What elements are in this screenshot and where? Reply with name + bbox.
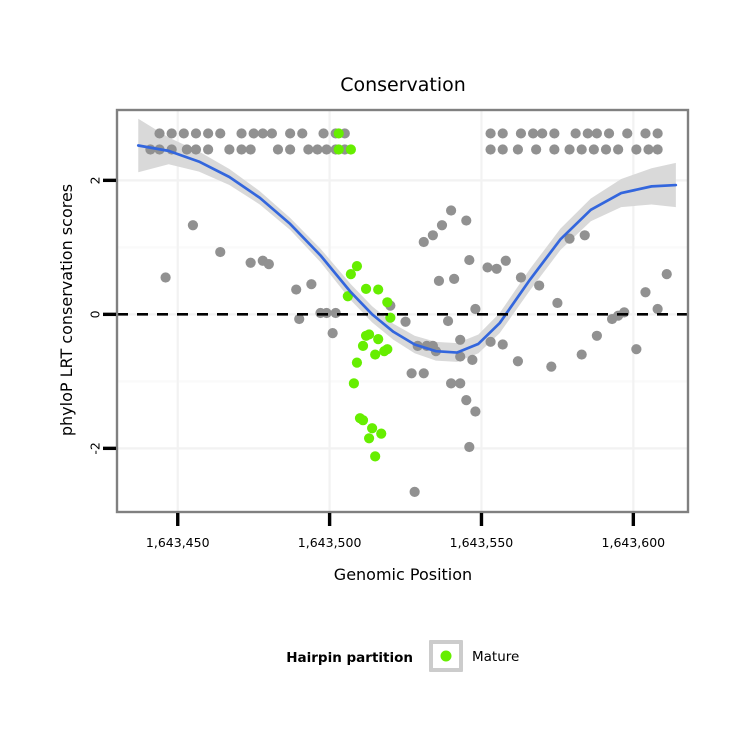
data-point (613, 144, 623, 154)
data-point (662, 269, 672, 279)
data-point (321, 308, 331, 318)
data-point (571, 128, 581, 138)
data-point (191, 144, 201, 154)
data-point (589, 144, 599, 154)
data-point (258, 128, 268, 138)
data-point (498, 128, 508, 138)
data-point (373, 334, 383, 344)
data-point (622, 128, 632, 138)
data-point (513, 356, 523, 366)
data-point (419, 368, 429, 378)
data-point (370, 349, 380, 359)
data-point (446, 378, 456, 388)
data-point (264, 259, 274, 269)
data-point (367, 423, 377, 433)
data-point (358, 341, 368, 351)
data-point (464, 442, 474, 452)
data-point (592, 128, 602, 138)
data-point (306, 279, 316, 289)
data-point (154, 128, 164, 138)
data-point (501, 256, 511, 266)
chart-canvas: Conservation 1,643,4501,643,5001,643,550… (0, 0, 750, 750)
data-point (485, 337, 495, 347)
data-point (303, 144, 313, 154)
data-point (455, 378, 465, 388)
data-point (640, 287, 650, 297)
chart-title: Conservation (340, 74, 466, 96)
data-point (513, 144, 523, 154)
data-point (613, 311, 623, 321)
data-point (160, 272, 170, 282)
data-point (236, 128, 246, 138)
data-point (361, 331, 371, 341)
data-point (167, 128, 177, 138)
data-point (461, 395, 471, 405)
data-point (577, 144, 587, 154)
data-point (498, 144, 508, 154)
data-point (470, 406, 480, 416)
data-point (631, 144, 641, 154)
data-point (376, 429, 386, 439)
data-point (373, 284, 383, 294)
data-point (267, 128, 277, 138)
data-point (485, 128, 495, 138)
data-point (236, 144, 246, 154)
data-point (215, 247, 225, 257)
plot-panel (117, 110, 688, 512)
data-point (419, 237, 429, 247)
data-point (516, 128, 526, 138)
data-point (549, 144, 559, 154)
data-point (485, 144, 495, 154)
data-point (246, 258, 256, 268)
data-point (580, 230, 590, 240)
data-point (631, 344, 641, 354)
data-point (349, 378, 359, 388)
data-point (604, 128, 614, 138)
data-point (328, 328, 338, 338)
data-point (437, 220, 447, 230)
y-axis-tick-label: -2 (87, 442, 102, 454)
data-point (653, 128, 663, 138)
data-point (643, 144, 653, 154)
data-point (467, 355, 477, 365)
data-point (382, 344, 392, 354)
data-point (215, 128, 225, 138)
data-point (546, 362, 556, 372)
y-axis-tick-label: 2 (87, 176, 102, 184)
data-point (182, 144, 192, 154)
data-point (312, 144, 322, 154)
data-point (564, 144, 574, 154)
conservation-plot-figure: Conservation 1,643,4501,643,5001,643,550… (0, 0, 750, 750)
data-point (370, 451, 380, 461)
data-point (577, 349, 587, 359)
data-point (534, 280, 544, 290)
data-point (291, 284, 301, 294)
data-point (464, 255, 474, 265)
data-point (400, 317, 410, 327)
data-point (410, 487, 420, 497)
data-point (653, 144, 663, 154)
data-point (382, 297, 392, 307)
data-point (592, 331, 602, 341)
data-point (653, 304, 663, 314)
data-point (407, 368, 417, 378)
data-point (443, 316, 453, 326)
legend-title: Hairpin partition (286, 650, 413, 666)
x-axis-tick-label: 1,643,550 (450, 535, 514, 550)
data-point (334, 128, 344, 138)
data-point (321, 144, 331, 154)
data-point (224, 144, 234, 154)
data-point (531, 144, 541, 154)
data-point (361, 284, 371, 294)
data-point (601, 144, 611, 154)
data-point (285, 144, 295, 154)
data-point (470, 304, 480, 314)
data-point (552, 298, 562, 308)
x-axis-tick-label: 1,643,450 (146, 535, 210, 550)
data-point (346, 144, 356, 154)
data-point (428, 230, 438, 240)
data-point (528, 128, 538, 138)
data-point (461, 215, 471, 225)
data-point (331, 308, 341, 318)
data-point (273, 144, 283, 154)
data-point (583, 128, 593, 138)
x-axis-tick-label: 1,643,500 (298, 535, 362, 550)
data-point (358, 415, 368, 425)
data-point (352, 261, 362, 271)
legend-label-mature: Mature (472, 649, 519, 665)
data-point (537, 128, 547, 138)
data-point (516, 272, 526, 282)
y-axis-tick-label: 0 (87, 310, 102, 318)
data-point (549, 128, 559, 138)
x-axis-title: Genomic Position (334, 565, 472, 584)
data-point (364, 433, 374, 443)
data-point (640, 128, 650, 138)
data-point (346, 269, 356, 279)
data-point (285, 128, 295, 138)
data-point (297, 128, 307, 138)
data-point (179, 128, 189, 138)
data-point (498, 339, 508, 349)
data-point (446, 205, 456, 215)
y-axis-title: phyloP LRT conservation scores (57, 184, 76, 436)
data-point (434, 276, 444, 286)
data-point (352, 357, 362, 367)
x-axis-tick-label: 1,643,600 (602, 535, 666, 550)
data-point (203, 128, 213, 138)
data-point (334, 144, 344, 154)
data-point (492, 264, 502, 274)
data-point (318, 128, 328, 138)
data-point (249, 128, 259, 138)
data-point (455, 335, 465, 345)
legend-key-dot-mature[interactable] (441, 651, 452, 662)
data-point (191, 128, 201, 138)
data-point (482, 262, 492, 272)
data-point (188, 220, 198, 230)
data-point (246, 144, 256, 154)
data-point (203, 144, 213, 154)
data-point (449, 274, 459, 284)
